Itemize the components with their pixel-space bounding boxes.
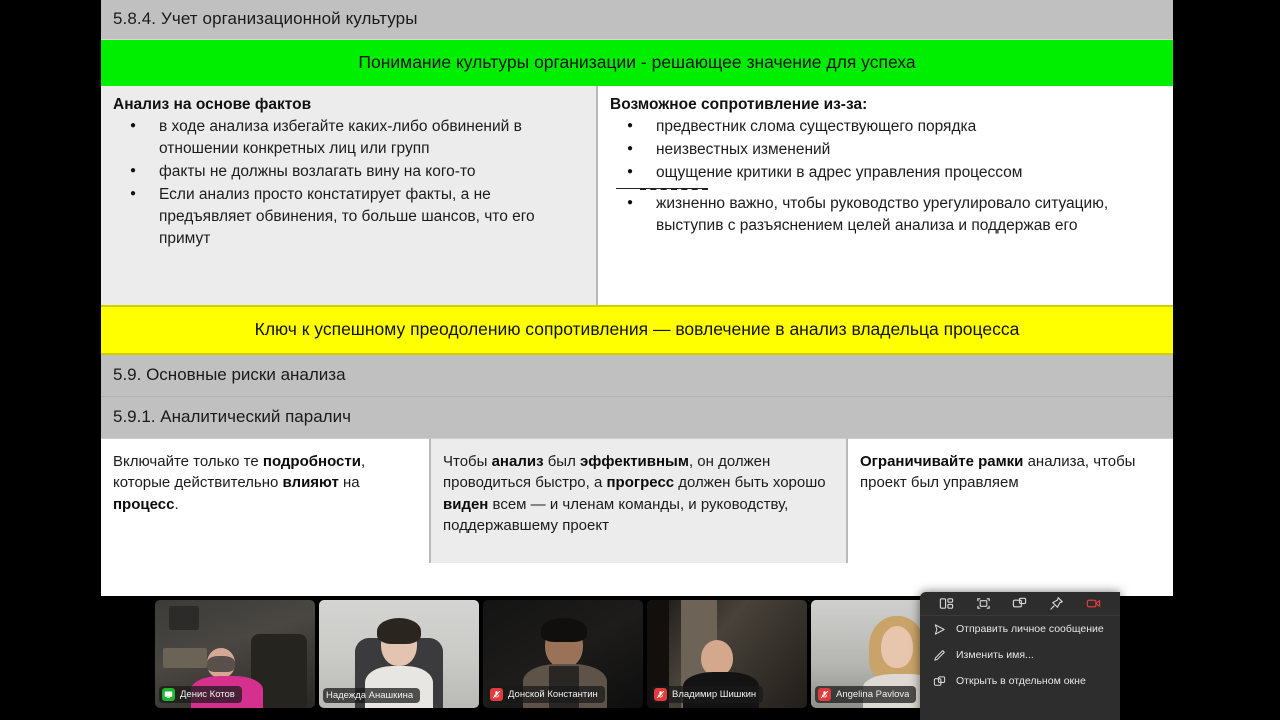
participant-context-menu[interactable]: Отправить личное сообщение Изменить имя.… <box>920 592 1120 720</box>
resistance-title: Возможное сопротивление из-за: <box>610 96 1161 114</box>
participant-name-badge: Донской Константин <box>487 686 605 703</box>
list-item: Если анализ просто констатирует факты, а… <box>113 184 584 250</box>
mic-muted-icon <box>654 688 667 701</box>
list-item: в ходе анализа избегайте каких-либо обви… <box>113 116 584 160</box>
dashed-divider <box>616 188 708 189</box>
mic-muted-icon <box>818 688 831 701</box>
layout-icon[interactable] <box>938 596 954 612</box>
yellow-banner: Ключ к успешному преодолению сопротивлен… <box>101 305 1173 355</box>
facts-analysis-title: Анализ на основе фактов <box>113 96 584 114</box>
menu-item-label: Открыть в отдельном окне <box>956 675 1086 687</box>
resistance-cell: Возможное сопротивление из-за: предвестн… <box>598 86 1173 305</box>
participant-name-badge: Надежда Анашкина <box>323 688 420 703</box>
menu-item-label: Отправить личное сообщение <box>956 623 1104 635</box>
participant-name: Надежда Анашкина <box>326 690 413 701</box>
list-item: факты не должны возлагать вину на кого-т… <box>113 161 584 183</box>
screen-share-icon <box>162 688 175 701</box>
list-item: предвестник слома существующего порядка <box>610 116 1161 138</box>
card-scope: Ограничивайте рамки анализа, чтобы проек… <box>848 438 1173 563</box>
facts-analysis-cell: Анализ на основе фактов в ходе анализа и… <box>101 86 598 305</box>
section-5-9-heading: 5.9. Основные риски анализа <box>101 355 1173 396</box>
menu-item-send-private-message[interactable]: Отправить личное сообщение <box>920 616 1120 642</box>
three-column-region: Включайте только те подробности, которые… <box>101 438 1173 563</box>
resistance-followup-list: жизненно важно, чтобы руководство урегул… <box>610 193 1161 237</box>
facts-analysis-list: в ходе анализа избегайте каких-либо обви… <box>113 116 584 250</box>
participant-tile[interactable]: Донской Константин <box>483 600 643 708</box>
participant-tile[interactable]: Денис Котов <box>155 600 315 708</box>
card-effectiveness: Чтобы анализ был эффективным, он должен … <box>431 438 848 563</box>
video-off-icon[interactable] <box>1086 596 1102 612</box>
screen-root: 5.8.4. Учет организационной культуры Пон… <box>0 0 1280 720</box>
list-item: неизвестных изменений <box>610 139 1161 161</box>
context-menu-toolbar <box>920 592 1120 616</box>
menu-item-open-in-new-window[interactable]: Открыть в отдельном окне <box>920 668 1120 694</box>
menu-item-rename[interactable]: Изменить имя... <box>920 642 1120 668</box>
slide-section-title: 5.8.4. Учет организационной культуры <box>101 0 1173 39</box>
green-banner: Понимание культуры организации - решающе… <box>101 39 1173 86</box>
section-5-9-1-heading: 5.9.1. Аналитический паралич <box>101 397 1173 438</box>
participant-tile[interactable]: Владимир Шишкин <box>647 600 807 708</box>
list-item: жизненно важно, чтобы руководство урегул… <box>610 193 1161 237</box>
pin-to-screen-icon[interactable] <box>1012 596 1028 612</box>
pin-icon[interactable] <box>1049 596 1065 612</box>
participant-name: Владимир Шишкин <box>672 689 756 700</box>
send-icon <box>932 622 946 636</box>
participant-name-badge: Владимир Шишкин <box>651 686 763 703</box>
focus-frame-icon[interactable] <box>975 596 991 612</box>
card-details: Включайте только те подробности, которые… <box>101 438 431 563</box>
list-item: ощущение критики в адрес управления проц… <box>610 162 1161 184</box>
new-window-icon <box>932 674 946 688</box>
participant-name: Денис Котов <box>180 689 235 700</box>
participant-name-badge: Денис Котов <box>159 686 242 703</box>
mic-muted-icon <box>490 688 503 701</box>
participant-name: Донской Константин <box>508 689 598 700</box>
pencil-icon <box>932 648 946 662</box>
presentation-slide: 5.8.4. Учет организационной культуры Пон… <box>101 0 1173 596</box>
menu-item-label: Изменить имя... <box>956 649 1034 661</box>
resistance-list: предвестник слома существующего порядка … <box>610 116 1161 184</box>
participant-name-badge: Angelina Pavlova <box>815 686 916 703</box>
participant-tile[interactable]: Надежда Анашкина <box>319 600 479 708</box>
two-column-region: Анализ на основе фактов в ходе анализа и… <box>101 86 1173 305</box>
participant-name: Angelina Pavlova <box>836 689 909 700</box>
